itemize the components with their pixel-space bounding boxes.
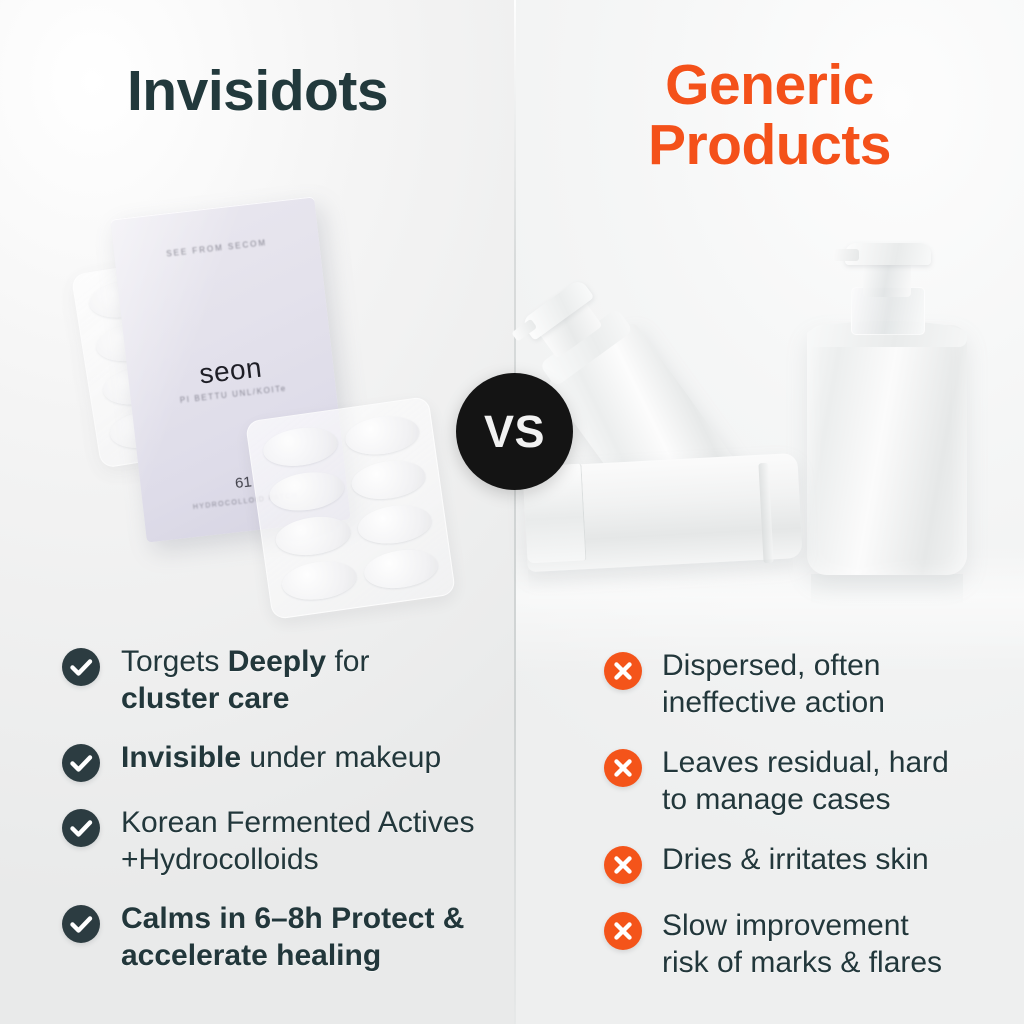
patch-dot [361,546,440,593]
list-item-text: Invisible under makeup [121,740,441,777]
list-item-text: Dries & irritates skin [662,842,929,879]
patch-dot [355,501,434,548]
list-item: Invisible under makeup [62,740,492,782]
rbullet-4-line2: risk of marks & flares [662,946,942,979]
vs-label: VS [484,406,545,458]
bullet-1-tail: for [326,645,369,678]
bullet-2-strong: Invisible [121,741,241,774]
patch-dot [273,513,352,560]
patch-dot [342,412,421,459]
list-item: Torgets Deeply forcluster care [62,644,492,717]
bullet-4-line2: accelerate healing [121,939,381,972]
x-icon [604,652,642,690]
patch-dot [261,423,340,470]
check-icon [62,648,100,686]
vs-badge: VS [456,373,573,490]
list-item: Dispersed, oftenineffective action [604,648,1004,721]
right-title-line-2: Products [515,115,1024,175]
list-item: Calms in 6–8h Protect &accelerate healin… [62,901,492,974]
benefits-list: Torgets Deeply forcluster care Invisible… [62,644,492,998]
right-product-image [515,225,1024,625]
patch-dot [349,456,428,503]
x-icon [604,749,642,787]
rbullet-4-line1: Slow improvement [662,909,909,942]
check-icon [62,809,100,847]
list-item-text: Korean Fermented Actives+Hydrocolloids [121,805,475,878]
left-title: Invisidots [0,62,515,122]
rbullet-2-line2: to manage cases [662,783,890,816]
rbullet-1-line1: Dispersed, often [662,649,880,682]
list-item: Leaves residual, hardto manage cases [604,745,1004,818]
list-item: Korean Fermented Actives+Hydrocolloids [62,805,492,878]
bullet-1-strong: Deeply [228,645,326,678]
right-title-line-1: Generic [515,55,1024,115]
comparison-infographic: Invisidots Generic Products SEE FROM SEC… [0,0,1024,1024]
right-title: Generic Products [515,55,1024,176]
patch-dot [280,557,359,604]
rbullet-3-line1: Dries & irritates skin [662,843,929,876]
bullet-1-lead: Torgets [121,645,228,678]
bullet-3-line1: Korean Fermented Actives [121,806,475,839]
x-icon [604,912,642,950]
check-icon [62,744,100,782]
left-product-image: SEE FROM SECOM seon PI BETTU UNL/KOITe 6… [0,190,515,610]
rbullet-2-line1: Leaves residual, hard [662,746,949,779]
bullet-3-line2: +Hydrocolloids [121,843,319,876]
pump-bottle-spout [833,249,859,261]
list-item-text: Torgets Deeply forcluster care [121,644,369,717]
x-icon [604,846,642,884]
hydrocolloid-patch-sheet-front [245,396,456,620]
check-icon [62,905,100,943]
rbullet-1-line2: ineffective action [662,686,885,719]
bullet-4-line1: Calms in 6–8h Protect & [121,902,464,935]
list-item-text: Slow improvementrisk of marks & flares [662,908,942,981]
bottle-reflection [811,574,963,636]
list-item: Dries & irritates skin [604,842,1004,884]
pump-bottle-body [807,325,967,575]
list-item-text: Dispersed, oftenineffective action [662,648,885,721]
list-item-text: Leaves residual, hardto manage cases [662,745,949,818]
list-item: Slow improvementrisk of marks & flares [604,908,1004,981]
bullet-2-tail: under makeup [241,741,441,774]
bullet-1-line2: cluster care [121,682,289,715]
drawbacks-list: Dispersed, oftenineffective action Leave… [604,648,1004,1006]
list-item-text: Calms in 6–8h Protect &accelerate healin… [121,901,464,974]
patch-dot [267,468,346,515]
